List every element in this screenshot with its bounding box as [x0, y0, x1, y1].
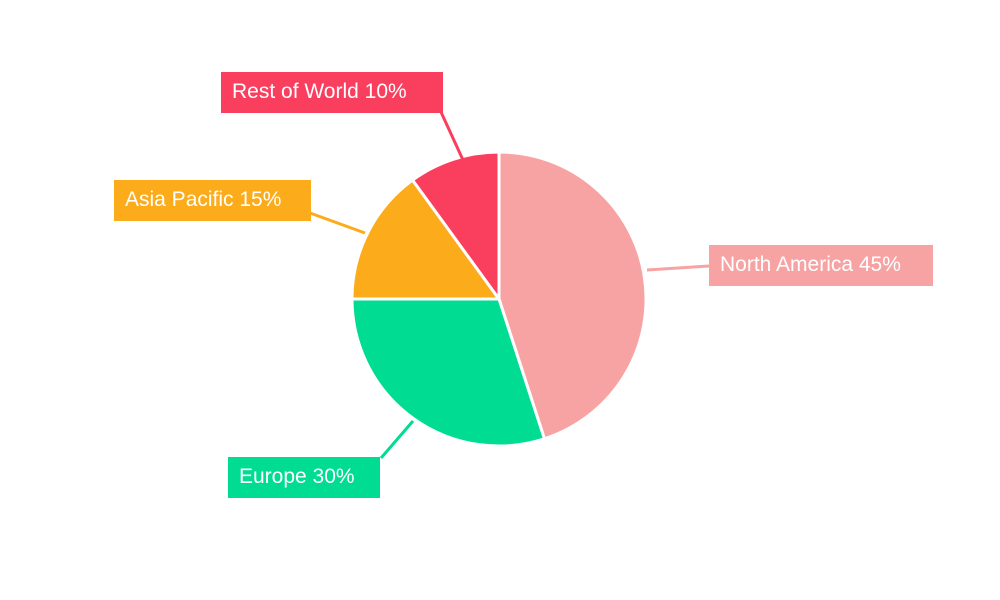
pie-label-rest-of-world[interactable]: Rest of World 10%	[221, 72, 443, 113]
leader-line-north-america	[647, 266, 709, 270]
leader-line-rest-of-world	[441, 112, 463, 160]
pie-label-asia-pacific[interactable]: Asia Pacific 15%	[114, 180, 311, 221]
pie-label-europe[interactable]: Europe 30%	[228, 457, 380, 498]
leader-line-asia-pacific	[310, 213, 365, 233]
pie-slices	[352, 152, 646, 446]
pie-chart-canvas	[0, 0, 1000, 600]
pie-label-north-america[interactable]: North America 45%	[709, 245, 933, 286]
pie-chart: North America 45%Europe 30%Asia Pacific …	[0, 0, 1000, 600]
leader-line-europe	[381, 421, 413, 458]
